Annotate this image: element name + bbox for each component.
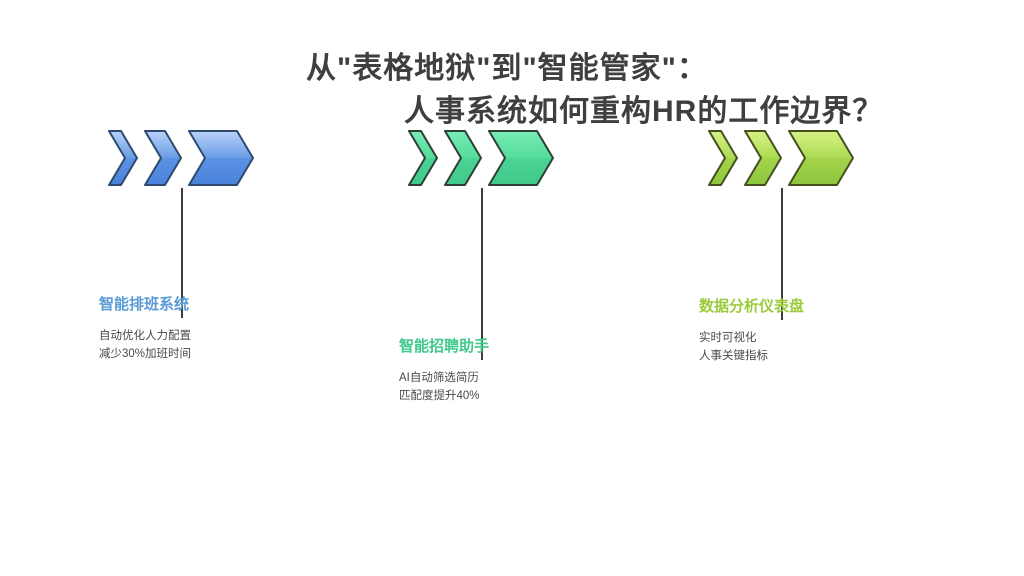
chevron-large-3 — [188, 130, 254, 186]
chevron-group-data-dashboard — [708, 130, 856, 186]
item-desc-data-dashboard: 实时可视化 人事关键指标 — [699, 330, 909, 366]
item-heading-smart-recruiting: 智能招聘助手 — [399, 338, 609, 356]
item-desc-line-2: 匹配度提升40% — [399, 388, 609, 406]
chevron-group-smart-scheduling — [108, 130, 256, 186]
chevron-small-2 — [744, 130, 782, 186]
slide-canvas: 从"表格地狱"到"智能管家"： 人事系统如何重构HR的工作边界？ — [0, 0, 1024, 576]
item-data-dashboard: 数据分析仪表盘 实时可视化 人事关键指标 — [699, 298, 909, 366]
item-desc-line-2: 减少30%加班时间 — [99, 346, 309, 364]
chevron-large-3 — [788, 130, 854, 186]
chevron-small-2 — [144, 130, 182, 186]
chevron-small-1 — [708, 130, 738, 186]
item-desc-line-1: 实时可视化 — [699, 330, 909, 348]
chevron-small-1 — [108, 130, 138, 186]
chevron-group-smart-recruiting — [408, 130, 556, 186]
title-line-1: 从"表格地狱"到"智能管家"： — [300, 48, 1000, 91]
page-title: 从"表格地狱"到"智能管家"： 人事系统如何重构HR的工作边界？ — [300, 48, 1000, 133]
item-desc-smart-scheduling: 自动优化人力配置 减少30%加班时间 — [99, 328, 309, 364]
chevron-large-3 — [488, 130, 554, 186]
title-line-2: 人事系统如何重构HR的工作边界？ — [300, 91, 1000, 134]
item-desc-line-1: 自动优化人力配置 — [99, 328, 309, 346]
item-desc-line-2: 人事关键指标 — [699, 348, 909, 366]
connector-line-smart-recruiting — [481, 188, 483, 360]
item-desc-line-1: AI自动筛选简历 — [399, 370, 609, 388]
item-smart-scheduling: 智能排班系统 自动优化人力配置 减少30%加班时间 — [99, 296, 309, 364]
item-heading-smart-scheduling: 智能排班系统 — [99, 296, 309, 314]
item-heading-data-dashboard: 数据分析仪表盘 — [699, 298, 909, 316]
item-smart-recruiting: 智能招聘助手 AI自动筛选简历 匹配度提升40% — [399, 338, 609, 406]
chevron-small-1 — [408, 130, 438, 186]
chevron-small-2 — [444, 130, 482, 186]
item-desc-smart-recruiting: AI自动筛选简历 匹配度提升40% — [399, 370, 609, 406]
